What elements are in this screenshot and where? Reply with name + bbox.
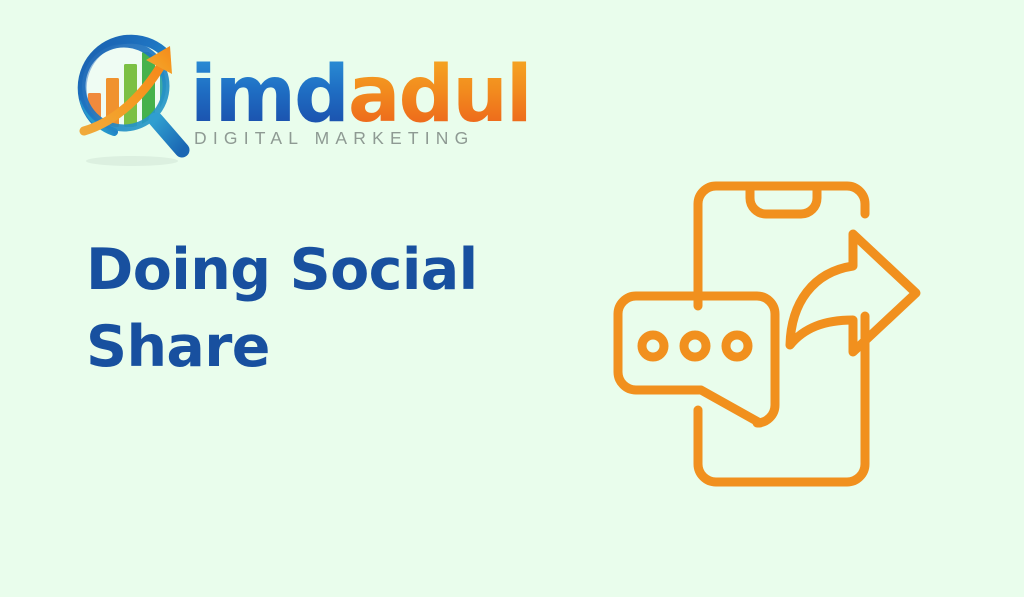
brand-wordmark-part-1: imd: [190, 56, 348, 134]
page-canvas: imdadul DIGITAL MARKETING Doing Social S…: [0, 0, 1024, 597]
page-title: Doing Social Share: [86, 232, 506, 386]
phone-notch: [750, 190, 817, 214]
share-arrow: [790, 234, 916, 352]
chat-dot-1: [642, 335, 664, 357]
smartphone-outline: [698, 186, 865, 306]
brand-tagline: DIGITAL MARKETING: [194, 128, 474, 149]
brand-wordmark-part-2: adul: [348, 56, 531, 134]
chat-dot-2: [684, 335, 706, 357]
magnifying-glass-bar-chart-icon: [62, 30, 194, 166]
chat-dot-3: [726, 335, 748, 357]
page-title-line-1: Doing Social: [86, 232, 506, 309]
brand-logo: imdadul DIGITAL MARKETING: [62, 28, 522, 168]
social-share-illustration: [605, 168, 945, 513]
page-title-line-2: Share: [86, 309, 506, 386]
